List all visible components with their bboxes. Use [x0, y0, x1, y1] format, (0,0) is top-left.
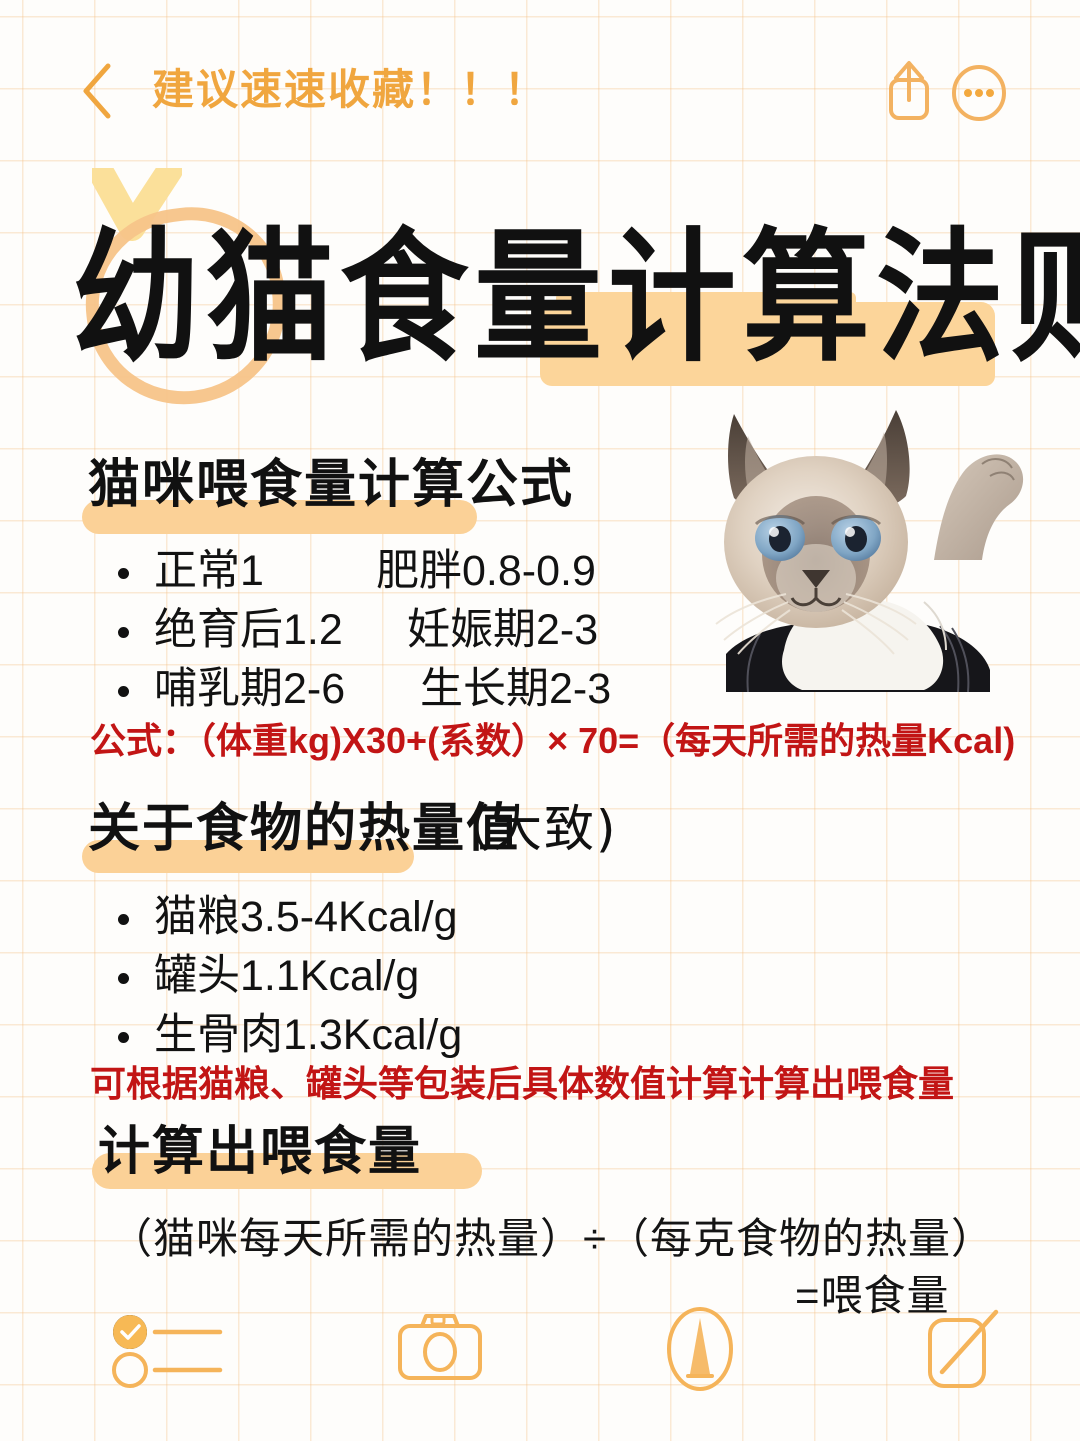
list-item: 正常1肥胖0.8-0.9: [110, 542, 611, 601]
share-icon[interactable]: [880, 56, 938, 126]
section1-formula-note: 公式：（体重kg)X30+(系数）× 70=（每天所需的热量Kcal): [90, 712, 1015, 764]
coefficient-left: 绝育后1.2: [154, 601, 407, 660]
poster-headline: 幼猫食量计算法则: [72, 204, 1052, 394]
poster-title-block: 幼猫食量计算法则: [0, 180, 1080, 410]
section1-heading: 猫咪喂食量计算公式: [88, 452, 574, 518]
note-pen-icon[interactable]: [912, 1308, 1012, 1399]
list-item: 猫粮3.5-4Kcal/g: [110, 888, 462, 947]
section3-heading: 计算出喂食量: [98, 1119, 422, 1185]
list-item: 罐头1.1Kcal/g: [110, 947, 462, 1006]
coefficient-left: 正常1: [154, 542, 376, 601]
chevron-left-icon[interactable]: [78, 62, 118, 120]
section2-heading-suffix: （大致): [440, 796, 618, 862]
coefficient-right: 肥胖0.8-0.9: [376, 542, 596, 601]
section3-formula: （猫咪每天所需的热量）÷（每克食物的热量）: [110, 1205, 994, 1266]
coefficient-right: 生长期2-3: [420, 660, 611, 719]
compass-icon[interactable]: [655, 1306, 745, 1397]
checklist-icon[interactable]: [108, 1312, 228, 1397]
page-title: 建议速速收藏！！！: [152, 54, 548, 126]
camera-icon[interactable]: [392, 1308, 492, 1393]
section2-list: 猫粮3.5-4Kcal/g 罐头1.1Kcal/g 生骨肉1.3Kcal/g: [110, 888, 462, 1065]
coefficient-right: 妊娠期2-3: [407, 601, 598, 660]
poster-canvas: 建议速速收藏！！！ 幼猫食量计算法则: [0, 0, 1080, 1441]
bottom-icon-row: [0, 1300, 1080, 1420]
section1-list: 正常1肥胖0.8-0.9 绝育后1.2妊娠期2-3 哺乳期2-6生长期2-3: [110, 542, 611, 719]
list-item: 绝育后1.2妊娠期2-3: [110, 601, 611, 660]
kitten-photo: [690, 402, 1030, 692]
more-dots-icon[interactable]: [950, 64, 1008, 122]
list-item: 哺乳期2-6生长期2-3: [110, 660, 611, 719]
section2-note: 可根据猫粮、罐头等包装后具体数值计算计算出喂食量: [90, 1055, 954, 1107]
top-bar: 建议速速收藏！！！: [0, 48, 1080, 138]
coefficient-left: 哺乳期2-6: [154, 660, 420, 719]
